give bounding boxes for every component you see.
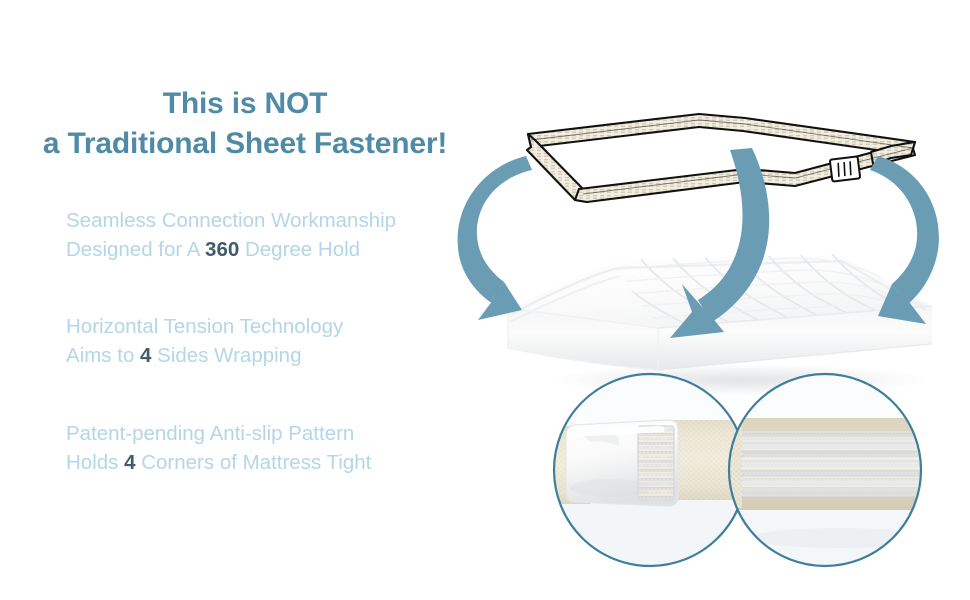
feature-1-line-2: Designed for A 360 Degree Hold xyxy=(66,235,486,264)
feature-seamless-connection: Seamless Connection Workmanship Designed… xyxy=(66,206,486,264)
page-title: This is NOT a Traditional Sheet Fastener… xyxy=(0,84,490,164)
arrow-middle-icon xyxy=(670,148,769,338)
strap-far-band xyxy=(528,114,915,155)
arrow-right-icon xyxy=(870,156,939,324)
headline-line-1: This is NOT xyxy=(0,84,490,124)
feature-1-text-after: Degree Hold xyxy=(239,238,360,261)
feature-1-number: 360 xyxy=(205,238,239,261)
feature-3-number: 4 xyxy=(124,451,135,474)
headline-line-2: a Traditional Sheet Fastener! xyxy=(0,124,490,164)
detail-circles-illustration xyxy=(550,370,950,575)
feature-3-text-after: Corners of Mattress Tight xyxy=(136,451,372,474)
feature-3-line-2: Holds 4 Corners of Mattress Tight xyxy=(66,448,486,477)
feature-2-number: 4 xyxy=(140,344,151,367)
feature-2-text-after: Sides Wrapping xyxy=(151,344,301,367)
feature-2-line-2: Aims to 4 Sides Wrapping xyxy=(66,341,486,370)
feature-1-line-1: Seamless Connection Workmanship xyxy=(66,206,486,235)
arrows-illustration xyxy=(430,150,970,370)
product-infographic: This is NOT a Traditional Sheet Fastener… xyxy=(0,0,970,600)
feature-2-text-before: Aims to xyxy=(66,344,140,367)
feature-3-line-1: Patent-pending Anti-slip Pattern xyxy=(66,419,486,448)
feature-horizontal-tension: Horizontal Tension Technology Aims to 4 … xyxy=(66,312,486,370)
feature-anti-slip-pattern: Patent-pending Anti-slip Pattern Holds 4… xyxy=(66,419,486,477)
feature-3-text-before: Holds xyxy=(66,451,124,474)
feature-1-text-before: Designed for A xyxy=(66,238,205,261)
feature-2-line-1: Horizontal Tension Technology xyxy=(66,312,486,341)
arrow-left-icon xyxy=(458,156,532,320)
